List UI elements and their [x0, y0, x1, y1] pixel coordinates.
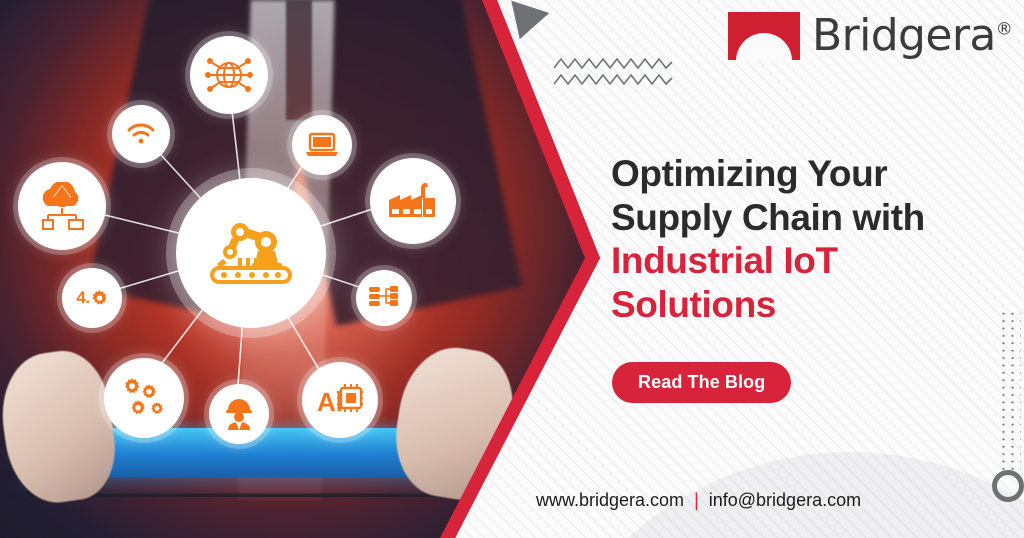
node-gears: [104, 358, 184, 438]
node-database: [356, 270, 412, 326]
robot-arm-conveyor-icon: [208, 220, 294, 286]
node-factory: [370, 158, 456, 244]
hardhat-worker-icon: [223, 398, 255, 430]
node-hub-robot-arm: [176, 178, 326, 328]
gear-icon: [91, 290, 108, 307]
page-title: Optimizing Your Supply Chain with Indust…: [611, 152, 1011, 327]
dot-grid-decoration: [999, 310, 1021, 472]
node-wifi: [112, 105, 170, 163]
node-cloud-upload: [18, 162, 106, 250]
contact-footer: www.bridgera.com | info@bridgera.com: [536, 490, 861, 511]
bridge-arch-logo-icon: [728, 12, 800, 60]
globe-network-icon: [205, 55, 253, 95]
headline-line-2: Supply Chain with: [611, 196, 1011, 240]
node-globe-network: [190, 36, 268, 114]
footer-separator: |: [694, 490, 699, 511]
cloud-upload-icon: [35, 182, 89, 230]
gears-icon: [119, 376, 169, 420]
node-laptop: [292, 115, 352, 175]
logo-wordmark: Bridgera®: [812, 14, 1012, 58]
headline-line-4: Solutions: [611, 283, 1011, 327]
node-ai-chip: AI: [302, 362, 378, 438]
marketing-banner: 4.: [0, 0, 1024, 538]
node-industry-40: 4.: [62, 268, 122, 328]
ring-marker-decoration: [992, 470, 1024, 502]
website-link[interactable]: www.bridgera.com: [536, 490, 684, 511]
read-the-blog-button[interactable]: Read The Blog: [612, 362, 791, 403]
registered-trademark-icon: ®: [996, 19, 1012, 39]
logo-text: Bridgera: [812, 10, 996, 61]
headline-line-1: Optimizing Your: [611, 152, 1011, 196]
factory-icon: [387, 180, 439, 222]
laptop-icon: [305, 132, 339, 158]
ai-chip-icon: AI: [317, 380, 363, 420]
industry-40-label: 4.: [76, 288, 107, 308]
wifi-icon: [126, 122, 156, 146]
zigzag-lines-icon: [552, 56, 674, 88]
email-link[interactable]: info@bridgera.com: [709, 490, 861, 511]
bridgera-logo[interactable]: Bridgera®: [728, 12, 1012, 60]
database-network-icon: [368, 284, 400, 312]
node-worker: [209, 384, 269, 444]
headline-line-3: Industrial IoT: [611, 239, 1011, 283]
